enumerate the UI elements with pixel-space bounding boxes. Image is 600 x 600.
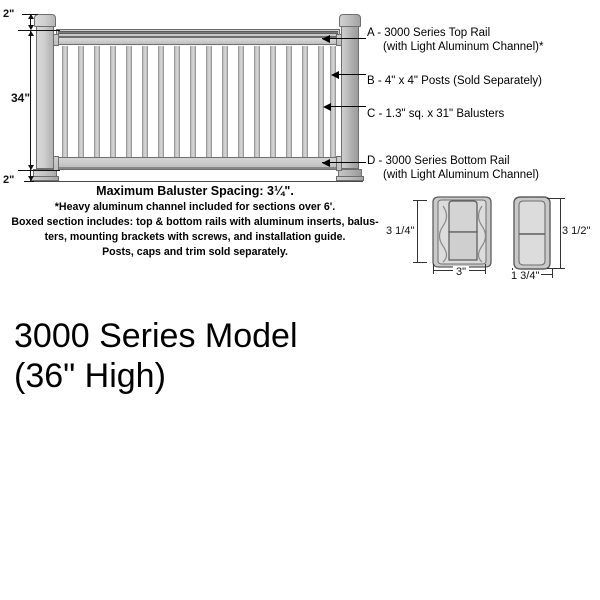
cross-section-group: 3 1/4" 3" 3 1/2" 1 3/4" — [395, 190, 600, 290]
legend-item-a-line1: A - 3000 Series Top Rail — [367, 27, 490, 39]
bottom-rail-cross-section — [508, 193, 556, 275]
top-rail-lower-flange — [54, 37, 342, 45]
section-b-height-tick-top — [547, 198, 565, 199]
leader-line-c — [330, 106, 366, 107]
legend-item-d: D - 3000 Series Bottom Rail (with Light … — [367, 154, 539, 182]
arrow-cap-up — [28, 14, 34, 19]
section-a-height-tick-bottom — [413, 262, 427, 263]
dimension-line-height — [30, 31, 31, 170]
legend-item-a-line2: (with Light Aluminum Channel)* — [367, 40, 543, 54]
extension-line-base-bottom — [24, 181, 34, 182]
section-a-width-tick-left — [433, 264, 434, 274]
baluster — [206, 46, 212, 157]
baluster — [222, 46, 228, 157]
bottom-rail-aluminum-channel — [58, 167, 338, 169]
section-b-height-rule — [560, 198, 561, 268]
bottom-rail-endcap-right — [336, 156, 342, 171]
post-base-lip-left — [31, 176, 59, 181]
section-b-width-tick-right — [552, 268, 553, 278]
baluster — [78, 46, 84, 157]
top-rail-endcap-left — [53, 34, 59, 46]
notes-line-4: Posts, caps and trim sold separately. — [0, 245, 390, 260]
baluster — [330, 46, 336, 157]
extension-line-cap-bottom — [18, 30, 60, 31]
section-b-height-tick-bottom — [547, 268, 565, 269]
top-rail-aluminum-channel — [58, 31, 338, 34]
bottom-rail-endcap-left — [53, 156, 59, 171]
railing-elevation-diagram: 2" 34" 2" — [0, 0, 380, 200]
post-shaft-left — [36, 26, 54, 169]
post-shaft-right — [341, 26, 359, 169]
page-title-line-1: 3000 Series Model — [14, 316, 298, 356]
notes-headline: Maximum Baluster Spacing: 3¼". — [0, 183, 390, 200]
baluster — [302, 46, 308, 157]
extension-line-height-bottom — [18, 170, 60, 171]
section-a-height-label: 3 1/4" — [386, 225, 414, 237]
baluster — [238, 46, 244, 157]
legend-item-c-line1: C - 1.3" sq. x 31" Balusters — [367, 108, 504, 120]
baluster — [254, 46, 260, 157]
baluster — [286, 46, 292, 157]
legend-item-a: A - 3000 Series Top Rail (with Light Alu… — [367, 26, 543, 54]
ground-reference-line — [33, 181, 363, 182]
baluster — [270, 46, 276, 157]
section-b-width-label: 1 3/4" — [509, 270, 541, 282]
section-a-width-tick-right — [485, 264, 486, 274]
baluster — [174, 46, 180, 157]
baluster — [94, 46, 100, 157]
legend-item-c: C - 1.3" sq. x 31" Balusters — [367, 107, 504, 121]
leader-arrow-b — [331, 71, 339, 79]
notes-line-2: Boxed section includes: top & bottom rai… — [0, 215, 390, 230]
page-title-line-2: (36" High) — [14, 356, 298, 396]
section-b-height-label: 3 1/2" — [562, 225, 590, 237]
legend-item-b-line1: B - 4" x 4" Posts (Sold Separately) — [367, 75, 542, 87]
dimension-top-cap-label: 2" — [3, 8, 14, 20]
page-title: 3000 Series Model (36" High) — [14, 316, 298, 396]
notes-line-1: *Heavy aluminum channel included for sec… — [0, 200, 390, 215]
top-rail-cross-section — [423, 194, 501, 272]
baluster — [318, 46, 324, 157]
leader-arrow-c — [323, 103, 331, 111]
baluster — [190, 46, 196, 157]
section-a-height-tick-top — [413, 200, 427, 201]
section-a-width-label: 3" — [453, 266, 469, 278]
baluster — [62, 46, 68, 157]
baluster — [142, 46, 148, 157]
baluster — [158, 46, 164, 157]
notes-block: Maximum Baluster Spacing: 3¼". *Heavy al… — [0, 183, 390, 260]
leader-arrow-a — [322, 35, 330, 43]
post-base-lip-right — [336, 176, 364, 181]
legend-item-d-line1: D - 3000 Series Bottom Rail — [367, 155, 510, 167]
arrow-cap-down — [28, 25, 34, 30]
baluster — [110, 46, 116, 157]
leader-line-b — [338, 74, 366, 75]
section-a-height-rule — [417, 200, 418, 262]
arrow-height-up — [28, 31, 34, 36]
leader-arrow-d — [322, 159, 330, 167]
legend-item-d-line2: (with Light Aluminum Channel) — [367, 168, 539, 182]
legend-item-b: B - 4" x 4" Posts (Sold Separately) — [367, 74, 542, 88]
dimension-height-label: 34" — [11, 91, 30, 105]
top-rail-endcap-right — [336, 34, 342, 46]
notes-line-3: ters, mounting brackets with screws, and… — [0, 230, 390, 245]
baluster — [126, 46, 132, 157]
